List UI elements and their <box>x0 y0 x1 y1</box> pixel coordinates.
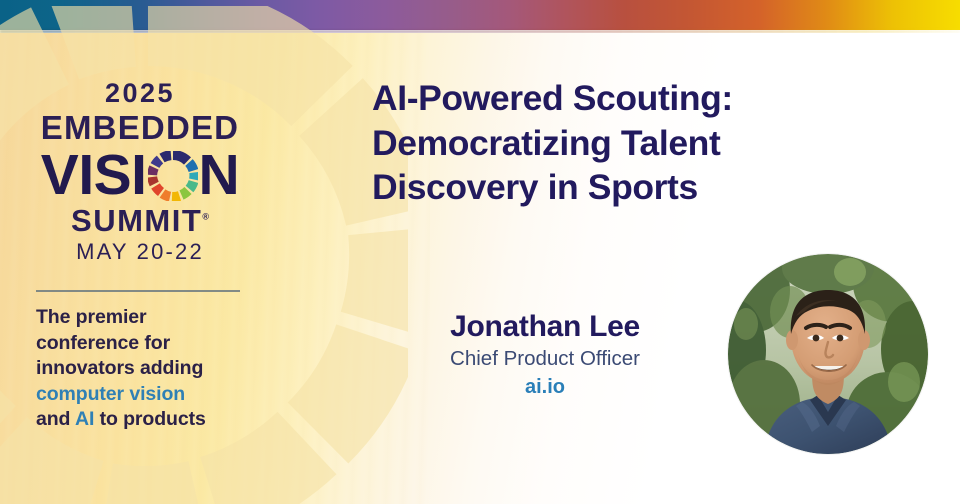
speaker-headshot <box>728 254 928 454</box>
tagline-line-4a: and <box>36 408 75 430</box>
tagline-line-3: innovators adding <box>36 357 203 379</box>
logo-vision-suffix: N <box>199 147 240 204</box>
horizontal-divider <box>36 290 240 292</box>
logo-embedded: EMBEDDED <box>0 111 280 144</box>
talk-title-line-3: Discovery in Sports <box>372 167 698 207</box>
tagline-highlight-computer-vision: computer vision <box>36 383 185 405</box>
logo-year: 2025 <box>0 80 280 107</box>
event-tagline: The premier conference for innovators ad… <box>36 305 261 433</box>
talk-title-line-1: AI-Powered Scouting: <box>372 78 733 118</box>
talk-title: AI-Powered Scouting: Democratizing Talen… <box>372 76 912 210</box>
speaker-role: Chief Product Officer <box>380 347 710 371</box>
tagline-line-1: The premier <box>36 306 147 328</box>
tagline-line-4b: to products <box>94 408 205 430</box>
logo-dates: MAY 20-22 <box>0 241 280 263</box>
talk-title-line-2: Democratizing Talent <box>372 123 720 163</box>
event-logo: 2025 EMBEDDED VISI <box>0 80 280 263</box>
tagline-line-2: conference for <box>36 332 170 354</box>
colored-ring-icon <box>148 151 198 201</box>
logo-summit-word: SUMMIT <box>71 203 202 238</box>
speaker-organization: ai.io <box>380 376 710 398</box>
logo-vision-row: VISI <box>0 146 280 204</box>
presentation-slide: 2025 EMBEDDED VISI <box>0 0 960 504</box>
speaker-info: Jonathan Lee Chief Product Officer ai.io <box>380 310 710 398</box>
trademark-symbol: ® <box>202 212 209 222</box>
speaker-name: Jonathan Lee <box>380 310 710 343</box>
tagline-highlight-ai: AI <box>75 408 94 430</box>
logo-vision-prefix: VISI <box>41 147 147 204</box>
logo-summit: SUMMIT® <box>0 205 280 236</box>
